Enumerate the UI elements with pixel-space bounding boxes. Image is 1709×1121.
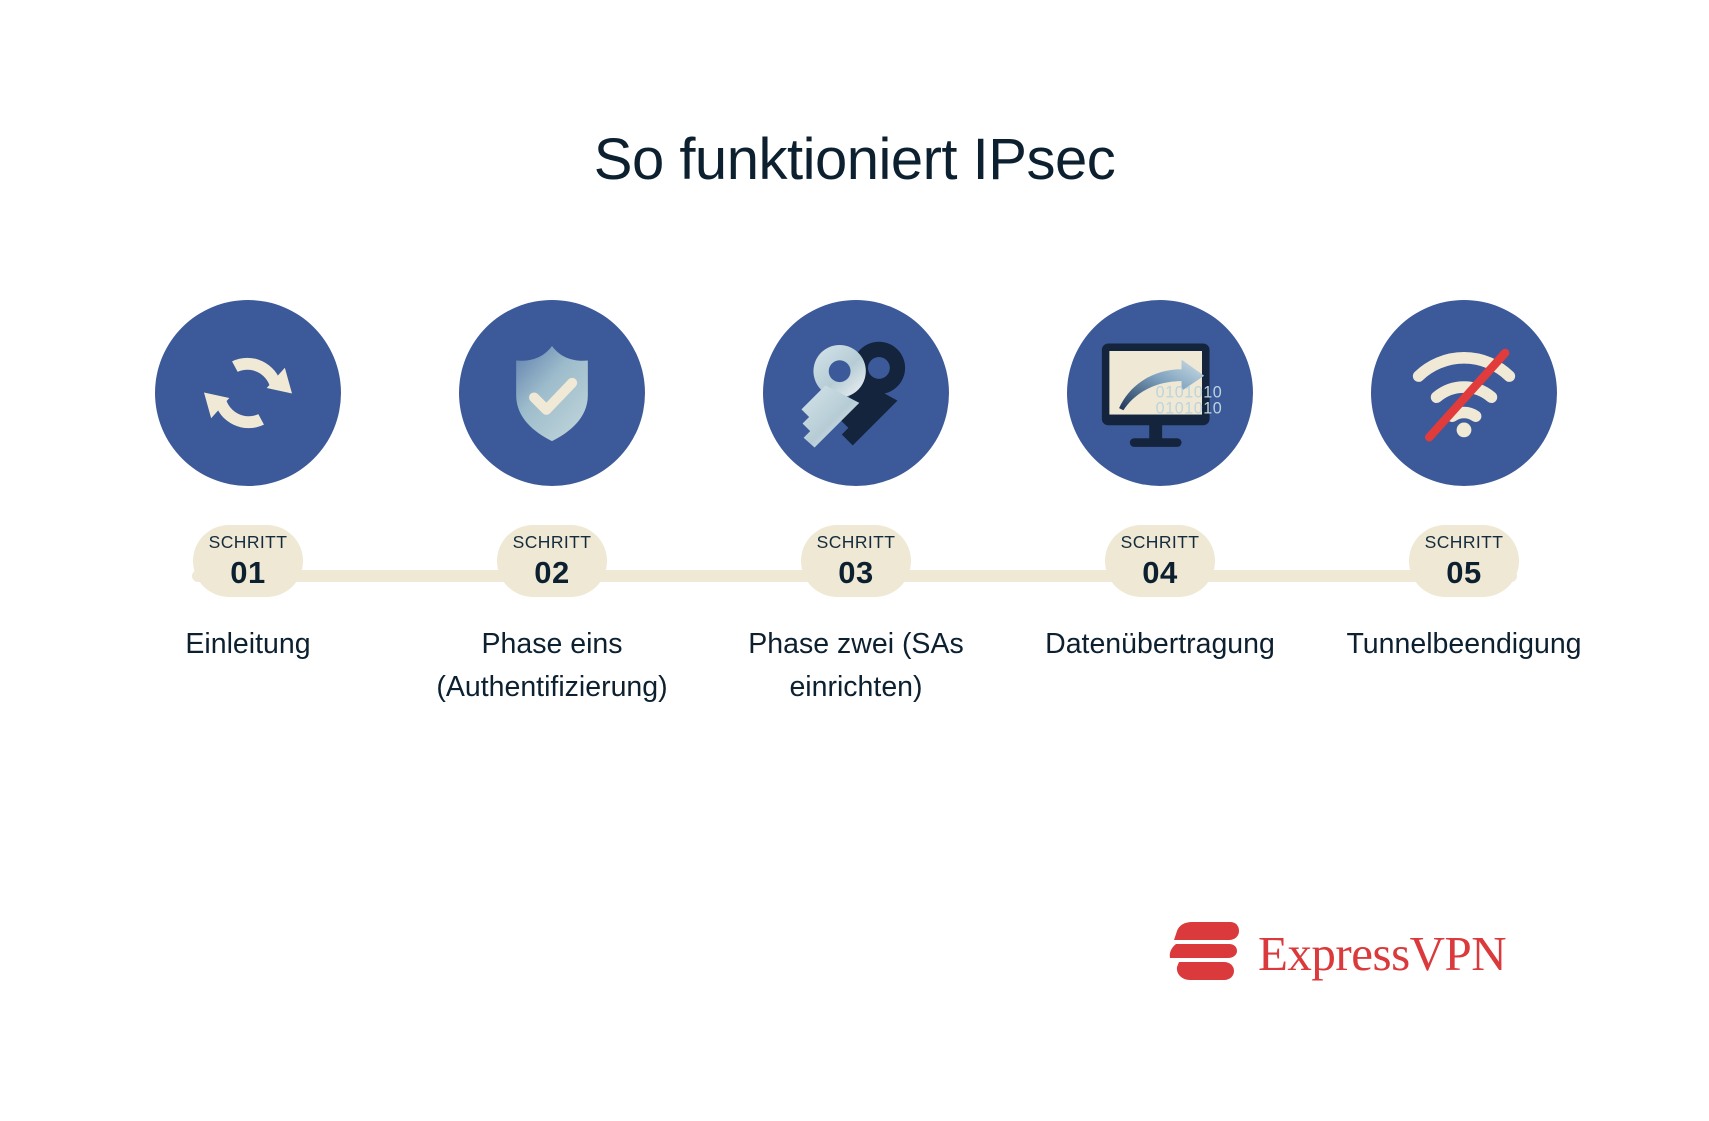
- step-02-badge-number: 02: [534, 557, 569, 588]
- step-04-label: Datenübertragung: [1045, 623, 1275, 666]
- step-02-icon-circle: [459, 300, 645, 486]
- step-03-icon-circle: [763, 300, 949, 486]
- step-01-label: Einleitung: [185, 623, 310, 666]
- step-05-badge: SCHRITT 05: [1409, 525, 1519, 597]
- timeline-step-04[interactable]: 0101010 0101010 SCHRITT 04 Datenübertrag…: [1008, 300, 1312, 666]
- step-01-badge-number: 01: [230, 557, 265, 588]
- expressvpn-logo-text: ExpressVPN: [1258, 929, 1506, 978]
- step-01-badge-word: SCHRITT: [209, 534, 288, 552]
- step-04-badge-number: 04: [1142, 557, 1177, 588]
- step-05-badge-word: SCHRITT: [1425, 534, 1504, 552]
- step-02-badge-word: SCHRITT: [513, 534, 592, 552]
- step-04-badge-word: SCHRITT: [1121, 534, 1200, 552]
- sync-arrows-icon: [193, 338, 303, 448]
- step-01-icon-circle: [155, 300, 341, 486]
- timeline-step-01[interactable]: SCHRITT 01 Einleitung: [96, 300, 400, 666]
- monitor-data-transfer-icon: 0101010 0101010: [1097, 337, 1223, 449]
- timeline-steps: SCHRITT 01 Einleitung: [96, 300, 1616, 709]
- step-05-label: Tunnelbeendigung: [1346, 623, 1581, 666]
- step-01-badge: SCHRITT 01: [193, 525, 303, 597]
- timeline-step-05[interactable]: SCHRITT 05 Tunnelbeendigung: [1312, 300, 1616, 666]
- step-03-badge: SCHRITT 03: [801, 525, 911, 597]
- step-02-badge: SCHRITT 02: [497, 525, 607, 597]
- step-04-icon-circle: 0101010 0101010: [1067, 300, 1253, 486]
- expressvpn-logo[interactable]: ExpressVPN: [1168, 920, 1506, 987]
- step-03-label: Phase zwei (SAs einrichten): [731, 623, 981, 709]
- step-02-label: Phase eins (Authentifizierung): [427, 623, 677, 709]
- timeline: SCHRITT 01 Einleitung: [96, 300, 1616, 820]
- step-03-badge-word: SCHRITT: [817, 534, 896, 552]
- wifi-off-icon: [1406, 343, 1522, 443]
- step-04-badge: SCHRITT 04: [1105, 525, 1215, 597]
- monitor-binary-row-2: 0101010: [1156, 399, 1223, 417]
- step-05-badge-number: 05: [1446, 557, 1481, 588]
- step-05-icon-circle: [1371, 300, 1557, 486]
- shield-check-icon: [496, 337, 608, 449]
- timeline-step-02[interactable]: SCHRITT 02 Phase eins (Authentifizierung…: [400, 300, 704, 709]
- timeline-step-03[interactable]: SCHRITT 03 Phase zwei (SAs einrichten): [704, 300, 1008, 709]
- page-title: So funktioniert IPsec: [0, 128, 1709, 192]
- two-keys-icon: [796, 337, 916, 449]
- expressvpn-e-logo-icon: [1168, 920, 1240, 987]
- step-03-badge-number: 03: [838, 557, 873, 588]
